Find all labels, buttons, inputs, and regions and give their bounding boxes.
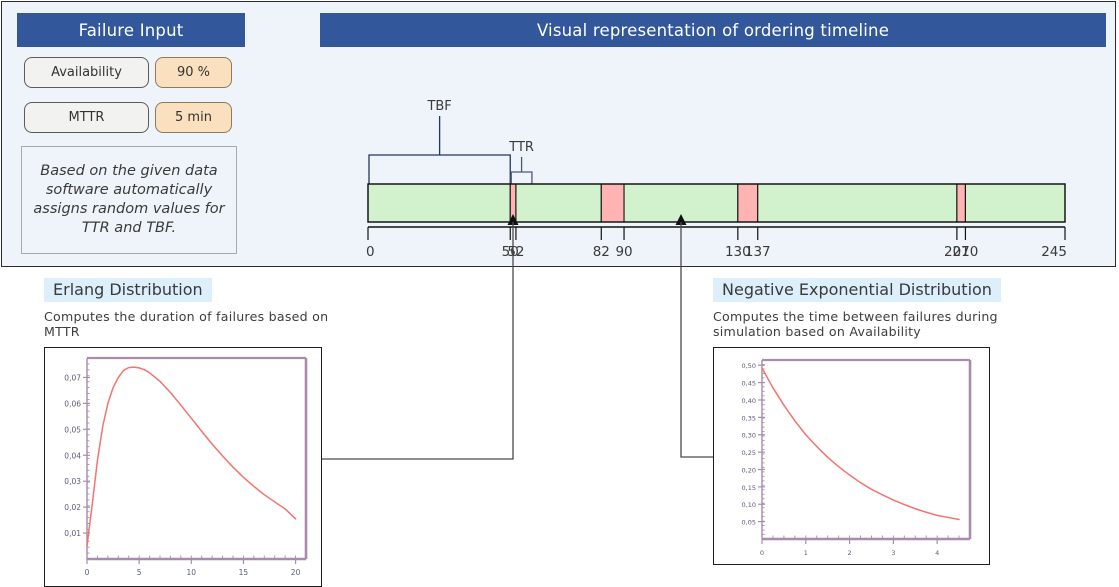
erlang-distribution-block: Erlang Distribution Computes the duratio… — [44, 278, 344, 587]
chart-curve — [87, 367, 296, 546]
timeline-header: Visual representation of ordering timeli… — [320, 13, 1106, 47]
chart-axes: 0,010,020,030,040,050,060,0705101520 — [64, 358, 306, 577]
connector-ttr-to-erlang — [322, 222, 513, 459]
negexp-chart: 0,050,100,150,200,250,300,350,400,450,50… — [714, 348, 988, 563]
chart-x-tick-label: 20 — [291, 568, 301, 577]
chart-y-tick-label: 0,10 — [742, 501, 756, 509]
availability-label: Availability — [24, 57, 149, 88]
ttr-bracket — [511, 172, 532, 184]
ttr-label: TTR — [508, 140, 534, 155]
chart-y-tick-label: 0,50 — [742, 362, 756, 370]
chart-y-tick-label: 0,35 — [742, 414, 756, 422]
chart-y-tick-label: 0,03 — [64, 477, 81, 486]
timeline-brackets: TBFTTR — [369, 99, 534, 184]
negexp-distribution-block: Negative Exponential Distribution Comput… — [713, 278, 1043, 565]
chart-y-tick-label: 0,07 — [64, 373, 81, 382]
tbf-label: TBF — [426, 99, 451, 114]
chart-y-tick-label: 0,04 — [64, 451, 81, 460]
negexp-title: Negative Exponential Distribution — [713, 278, 1001, 302]
availability-value[interactable]: 90 % — [155, 57, 232, 88]
chart-y-tick-label: 0,15 — [742, 484, 756, 492]
tbf-bracket — [369, 155, 510, 184]
chart-x-tick-label: 3 — [891, 549, 895, 557]
erlang-chart: 0,010,020,030,040,050,060,0705101520 — [45, 348, 320, 585]
chart-y-tick-label: 0,01 — [64, 529, 81, 538]
chart-y-tick-label: 0,06 — [64, 399, 81, 408]
chart-x-tick-label: 0 — [760, 549, 764, 557]
erlang-subtitle: Computes the duration of failures based … — [44, 309, 344, 339]
page-root: Failure Input Visual representation of o… — [0, 0, 1119, 572]
chart-x-tick-label: 0 — [85, 568, 90, 577]
chart-axes: 0,050,100,150,200,250,300,350,400,450,50… — [742, 360, 970, 557]
chart-y-tick-label: 0,05 — [64, 425, 81, 434]
chart-x-tick-label: 4 — [935, 549, 939, 557]
erlang-chart-frame: 0,010,020,030,040,050,060,0705101520 — [44, 347, 322, 587]
mttr-label: MTTR — [24, 102, 149, 133]
chart-x-tick-label: 2 — [848, 549, 852, 557]
chart-y-tick-label: 0,30 — [742, 432, 756, 440]
negexp-subtitle: Computes the time between failures durin… — [713, 309, 1043, 339]
negexp-chart-frame: 0,050,100,150,200,250,300,350,400,450,50… — [713, 347, 990, 565]
chart-y-tick-label: 0,25 — [742, 449, 756, 457]
chart-x-tick-label: 10 — [187, 568, 197, 577]
chart-y-tick-label: 0,45 — [742, 380, 756, 388]
erlang-title: Erlang Distribution — [44, 278, 212, 302]
chart-x-tick-label: 5 — [137, 568, 142, 577]
failure-input-header: Failure Input — [17, 13, 245, 47]
chart-y-tick-label: 0,20 — [742, 466, 756, 474]
chart-y-tick-label: 0,40 — [742, 397, 756, 405]
mttr-value[interactable]: 5 min — [155, 102, 232, 133]
chart-y-tick-label: 0,02 — [64, 503, 81, 512]
chart-x-tick-label: 1 — [804, 549, 808, 557]
chart-y-tick-label: 0,05 — [742, 519, 756, 527]
chart-x-tick-label: 15 — [239, 568, 249, 577]
chart-curve — [762, 368, 959, 520]
